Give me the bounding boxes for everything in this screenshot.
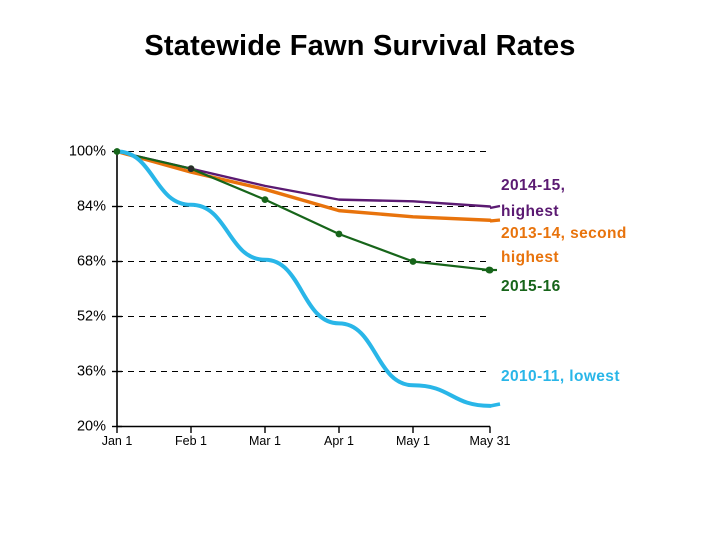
series-line-2 [117, 152, 490, 271]
series-marker-2-3 [336, 231, 343, 238]
y-tick-label-52: 52% [77, 308, 106, 324]
y-tick-label-100: 100% [69, 143, 106, 159]
series-marker-2-4 [410, 258, 417, 265]
legend-leaders [482, 206, 500, 406]
x-tick-label-jan1: Jan 1 [102, 434, 133, 448]
y-axis-labels: 100% 84% 68% 52% 36% 20% [69, 143, 106, 434]
x-tick-label-may31: May 31 [470, 434, 511, 448]
series-marker-2-2 [262, 196, 269, 203]
x-tick-label-mar1: Mar 1 [249, 434, 281, 448]
series-marker-origin [114, 148, 120, 154]
gridlines-group [117, 152, 490, 372]
legend-group: 2014-15, highest 2013-14, second highest… [501, 177, 627, 385]
series-line-1 [117, 152, 490, 221]
legend-leader-2013-14 [490, 220, 500, 221]
chart-container: Statewide Fawn Survival Rates 100% [0, 0, 720, 540]
y-tick-label-68: 68% [77, 253, 106, 269]
x-axis-labels: Jan 1 Feb 1 Mar 1 Apr 1 May 1 May 31 [102, 434, 511, 448]
legend-label-2014-15-line1[interactable]: 2014-15, [501, 177, 565, 194]
line-chart-plot: 100% 84% 68% 52% 36% 20% Jan 1 Feb 1 Mar… [0, 0, 720, 540]
x-tick-marks [117, 427, 490, 434]
legend-label-2010-11[interactable]: 2010-11, lowest [501, 368, 620, 385]
legend-marker-2015-16 [486, 267, 493, 274]
series-line-3 [117, 152, 490, 406]
data-series-layer [114, 148, 494, 406]
x-tick-label-may1: May 1 [396, 434, 430, 448]
legend-label-2014-15-line2[interactable]: highest [501, 203, 559, 220]
legend-label-2013-14-line2[interactable]: highest [501, 249, 559, 266]
legend-leader-2014-15 [490, 206, 500, 208]
y-tick-label-20: 20% [77, 418, 106, 434]
x-tick-label-feb1: Feb 1 [175, 434, 207, 448]
legend-label-2015-16[interactable]: 2015-16 [501, 278, 561, 295]
legend-label-2013-14-line1[interactable]: 2013-14, second [501, 225, 627, 242]
y-tick-label-84: 84% [77, 198, 106, 214]
y-tick-label-36: 36% [77, 363, 106, 379]
x-tick-label-apr1: Apr 1 [324, 434, 354, 448]
series-marker-feb1-overlap [188, 165, 194, 171]
legend-leader-2010-11 [490, 404, 500, 406]
